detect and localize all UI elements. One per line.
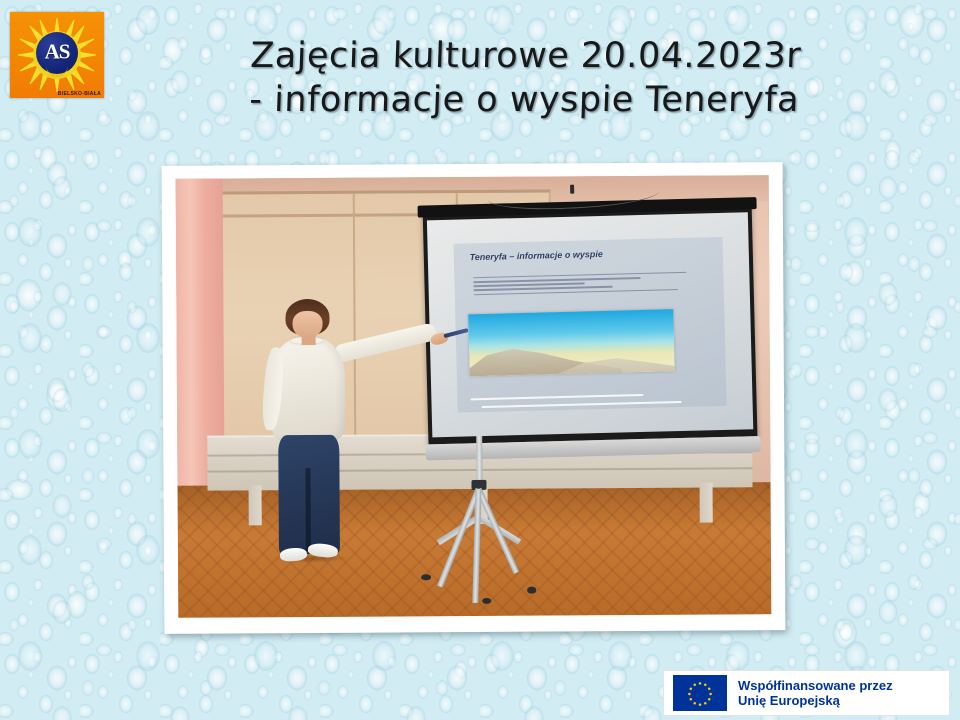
classroom-photo: Teneryfa – informacje o wyspie	[176, 175, 772, 618]
projected-slide-title: Teneryfa – informacje o wyspie	[470, 248, 603, 261]
eu-funding-badge: Współfinansowane przez Unię Europejską	[663, 670, 950, 716]
projected-slide: Teneryfa – informacje o wyspie	[453, 237, 727, 413]
person-leg-gap	[306, 468, 312, 551]
projected-landscape-image	[468, 309, 675, 377]
eu-stars-icon	[673, 675, 727, 711]
projection-screen: Teneryfa – informacje o wyspie	[423, 203, 758, 444]
logo-initials: AS	[45, 40, 70, 65]
title-line-2: - informacje o wyspie Teneryfa	[128, 78, 920, 122]
slide-underline	[482, 401, 682, 409]
eu-text-line-2: Unię Europejską	[738, 693, 893, 708]
logo-city-label: BIELSKO-BIAŁA	[58, 91, 101, 97]
bench-leg	[699, 483, 712, 523]
person-face	[293, 311, 323, 338]
bullet-line	[473, 282, 584, 286]
eu-flag-icon	[673, 675, 727, 711]
screen-cord-knob	[570, 184, 574, 193]
projected-slide-bullets	[473, 271, 705, 298]
as-bielsko-biala-logo: AS BIELSKO-BIAŁA	[10, 12, 104, 98]
eu-funding-text: Współfinansowane przez Unię Europejską	[738, 678, 893, 709]
title-line-1: Zajęcia kulturowe 20.04.2023r	[130, 34, 922, 78]
tripod-foot	[482, 597, 492, 603]
eu-text-line-1: Współfinansowane przez	[738, 678, 893, 693]
page-title: Zajęcia kulturowe 20.04.2023r - informac…	[128, 34, 921, 122]
bullet-line	[473, 271, 686, 278]
bench-leg	[249, 486, 262, 526]
photo-frame: Teneryfa – informacje o wyspie	[162, 162, 786, 634]
slide-underline	[471, 393, 644, 400]
presentation-slide: AS BIELSKO-BIAŁA Zajęcia kulturowe 20.04…	[0, 0, 960, 720]
tripod-column	[476, 436, 483, 484]
screen-surface: Teneryfa – informacje o wyspie	[427, 212, 754, 436]
tripod-foot	[527, 587, 537, 593]
